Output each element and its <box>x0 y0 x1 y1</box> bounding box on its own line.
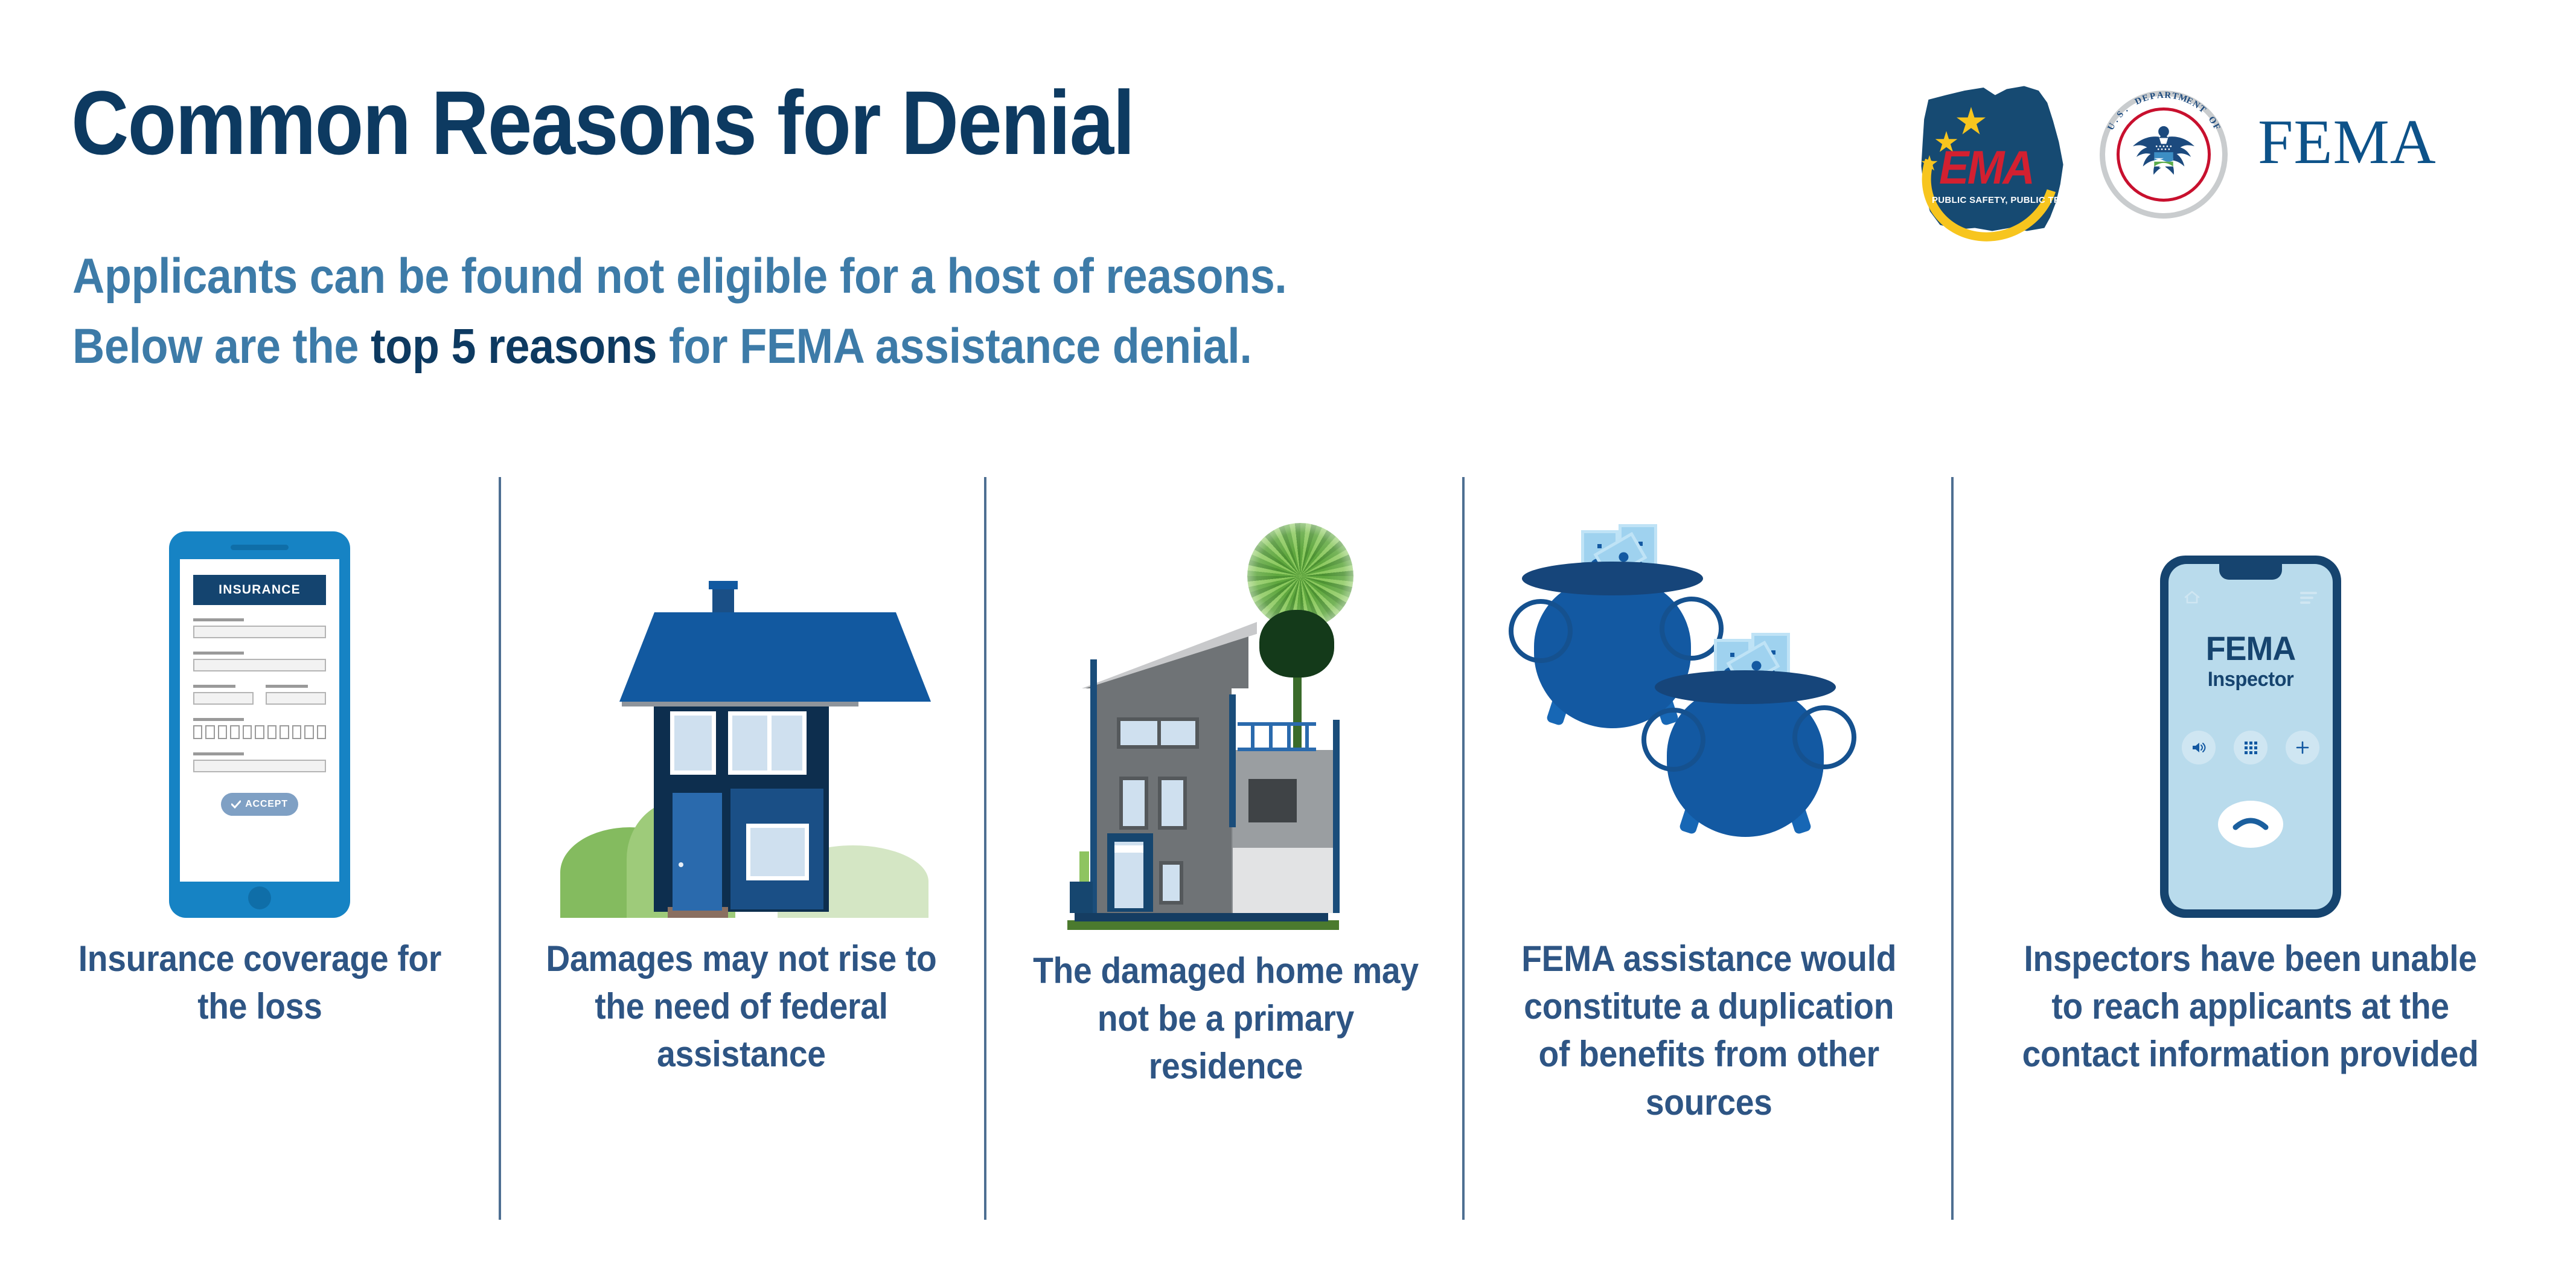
form-field-group <box>266 685 326 705</box>
window <box>670 711 716 775</box>
reasons-row: INSURANCE <box>0 471 2576 1226</box>
door-transom <box>1114 845 1143 853</box>
building-column <box>1229 694 1236 827</box>
house-icon <box>554 556 928 918</box>
speaker-button[interactable] <box>2182 731 2216 764</box>
form-header-label: INSURANCE <box>219 583 301 597</box>
checkbox-row <box>193 725 326 739</box>
checkbox[interactable] <box>243 725 252 739</box>
subtitle-line-2-before: Below are the <box>72 319 371 374</box>
checkbox[interactable] <box>230 725 239 739</box>
subtitle-line-2-after: for FEMA assistance denial. <box>657 319 1251 374</box>
checkbox[interactable] <box>205 725 214 739</box>
phone-notch <box>2219 564 2282 580</box>
speaker-grille <box>231 545 289 550</box>
field-label-line <box>193 618 244 621</box>
pot-handle-ring <box>1509 599 1573 663</box>
insurance-form: INSURANCE <box>193 575 326 871</box>
caller-name-line-1: FEMA <box>2172 632 2329 665</box>
accept-button-label: ACCEPT <box>245 799 288 810</box>
form-header-bar: INSURANCE <box>193 575 326 605</box>
keypad-button[interactable] <box>2234 731 2268 764</box>
tablet-device-icon: INSURANCE <box>169 531 350 918</box>
keypad-icon <box>2245 742 2257 754</box>
dark-window <box>1248 779 1297 822</box>
caller-name-line-2: Inspector <box>2172 668 2329 691</box>
column-divider <box>1462 477 1465 1220</box>
money-pots-icon <box>1516 507 1902 918</box>
reason-column-3: The damaged home may not be a primary re… <box>995 471 1456 1226</box>
reason-caption-5: Inspectors have been unable to reach app… <box>2006 935 2496 1078</box>
window <box>1159 861 1183 905</box>
dhs-seal-logo: U.S. DEPARTMENT OFHOMELAND SECURITY <box>2100 91 2228 219</box>
phone-screen: FEMA Inspector <box>2169 564 2333 909</box>
reason-column-2: Damages may not rise to the need of fede… <box>507 471 976 1226</box>
reason-column-1: INSURANCE <box>36 471 483 1226</box>
speaker-icon <box>2191 741 2207 754</box>
house-illustration <box>507 471 976 918</box>
phone-call-illustration: FEMA Inspector <box>1961 471 2540 918</box>
plus-icon <box>2295 740 2310 755</box>
form-input-field[interactable] <box>266 692 326 705</box>
checkbox[interactable] <box>280 725 289 739</box>
building-right-lower <box>1230 848 1338 913</box>
caller-name: FEMA Inspector <box>2169 632 2333 691</box>
house-roof <box>619 612 931 702</box>
reason-caption-3: The damaged home may not be a primary re… <box>1031 947 1421 1091</box>
smartphone-icon: FEMA Inspector <box>2160 556 2341 918</box>
form-field-row <box>193 685 326 705</box>
checkbox[interactable] <box>304 725 313 739</box>
reason-column-4: FEMA assistance would constitute a dupli… <box>1473 471 1945 1226</box>
field-label-line <box>193 752 244 755</box>
form-field-group <box>193 685 254 705</box>
column-divider <box>499 477 501 1220</box>
pot-rim <box>1655 670 1836 704</box>
phone-handset-icon <box>2232 815 2269 833</box>
window <box>1158 777 1187 830</box>
door-knob <box>679 862 683 867</box>
subtitle-line-2: Below are the top 5 reasons for FEMA ass… <box>72 312 1702 382</box>
window <box>1119 777 1148 830</box>
checkbox[interactable] <box>218 725 227 739</box>
front-door <box>673 793 722 911</box>
building-column <box>1333 720 1340 913</box>
menu-icon[interactable] <box>2300 592 2317 603</box>
window <box>746 824 809 880</box>
fema-wordmark: FEMA <box>2258 110 2437 173</box>
pot-handle-ring <box>1792 705 1856 769</box>
pot-handle-ring <box>1641 708 1705 772</box>
checkbox[interactable] <box>193 725 202 739</box>
home-icon[interactable] <box>2184 591 2200 604</box>
subtitle-line-1: Applicants can be found not eligible for… <box>72 242 1702 312</box>
add-call-button[interactable] <box>2286 731 2319 764</box>
header: Common Reasons for Denial Applicants can… <box>0 0 2576 459</box>
checkbox[interactable] <box>317 725 326 739</box>
reason-caption-1: Insurance coverage for the loss <box>71 935 449 1030</box>
window <box>1117 717 1199 749</box>
balcony-railing <box>1238 722 1316 751</box>
checkbox[interactable] <box>292 725 301 739</box>
pot-rim <box>1522 562 1703 595</box>
form-input-field[interactable] <box>193 659 326 671</box>
check-icon <box>231 800 241 809</box>
column-divider <box>984 477 986 1220</box>
field-label-line <box>193 685 235 688</box>
reason-caption-4: FEMA assistance would constitute a dupli… <box>1509 935 1909 1126</box>
money-pots-illustration <box>1473 471 1945 918</box>
damaged-building-illustration <box>995 471 1456 930</box>
form-input-field[interactable] <box>193 692 254 705</box>
reason-caption-2: Damages may not rise to the need of fede… <box>543 935 940 1078</box>
checkbox[interactable] <box>255 725 264 739</box>
reason-column-5: FEMA Inspector <box>1961 471 2540 1226</box>
tablet-screen: INSURANCE <box>180 559 339 882</box>
checkbox[interactable] <box>267 725 276 739</box>
eagle-shield-icon <box>2128 121 2199 188</box>
building-column <box>1090 659 1097 913</box>
building-plinth <box>1075 912 1328 921</box>
insurance-tablet-illustration: INSURANCE <box>36 471 483 918</box>
field-label-line <box>193 652 244 655</box>
damaged-building-icon <box>1056 483 1395 930</box>
call-actions <box>2169 731 2333 764</box>
ema-wordmark: EMA <box>1939 144 2033 191</box>
subtitle: Applicants can be found not eligible for… <box>72 242 1702 382</box>
end-call-button[interactable] <box>2218 801 2283 848</box>
ema-tagline: PUBLIC SAFETY, PUBLIC TRUST <box>1932 195 2079 205</box>
accept-button[interactable]: ACCEPT <box>221 793 298 816</box>
ground-strip <box>1067 920 1339 930</box>
chimney-cap <box>709 581 738 589</box>
ohio-ema-logo: EMA PUBLIC SAFETY, PUBLIC TRUST <box>1908 82 2083 235</box>
field-label-line <box>193 718 244 721</box>
logo-group: EMA PUBLIC SAFETY, PUBLIC TRUST U.S. DEP… <box>1908 66 2542 217</box>
palm-crown-shade <box>1259 610 1334 678</box>
column-divider <box>1951 477 1954 1220</box>
blue-base-box <box>1070 882 1093 913</box>
field-label-line <box>266 685 308 688</box>
form-input-field[interactable] <box>193 626 326 638</box>
window <box>728 711 807 775</box>
home-button[interactable] <box>248 886 271 909</box>
subtitle-highlight: top 5 reasons <box>371 319 657 374</box>
form-input-field[interactable] <box>193 760 326 772</box>
page-title: Common Reasons for Denial <box>71 77 1134 168</box>
